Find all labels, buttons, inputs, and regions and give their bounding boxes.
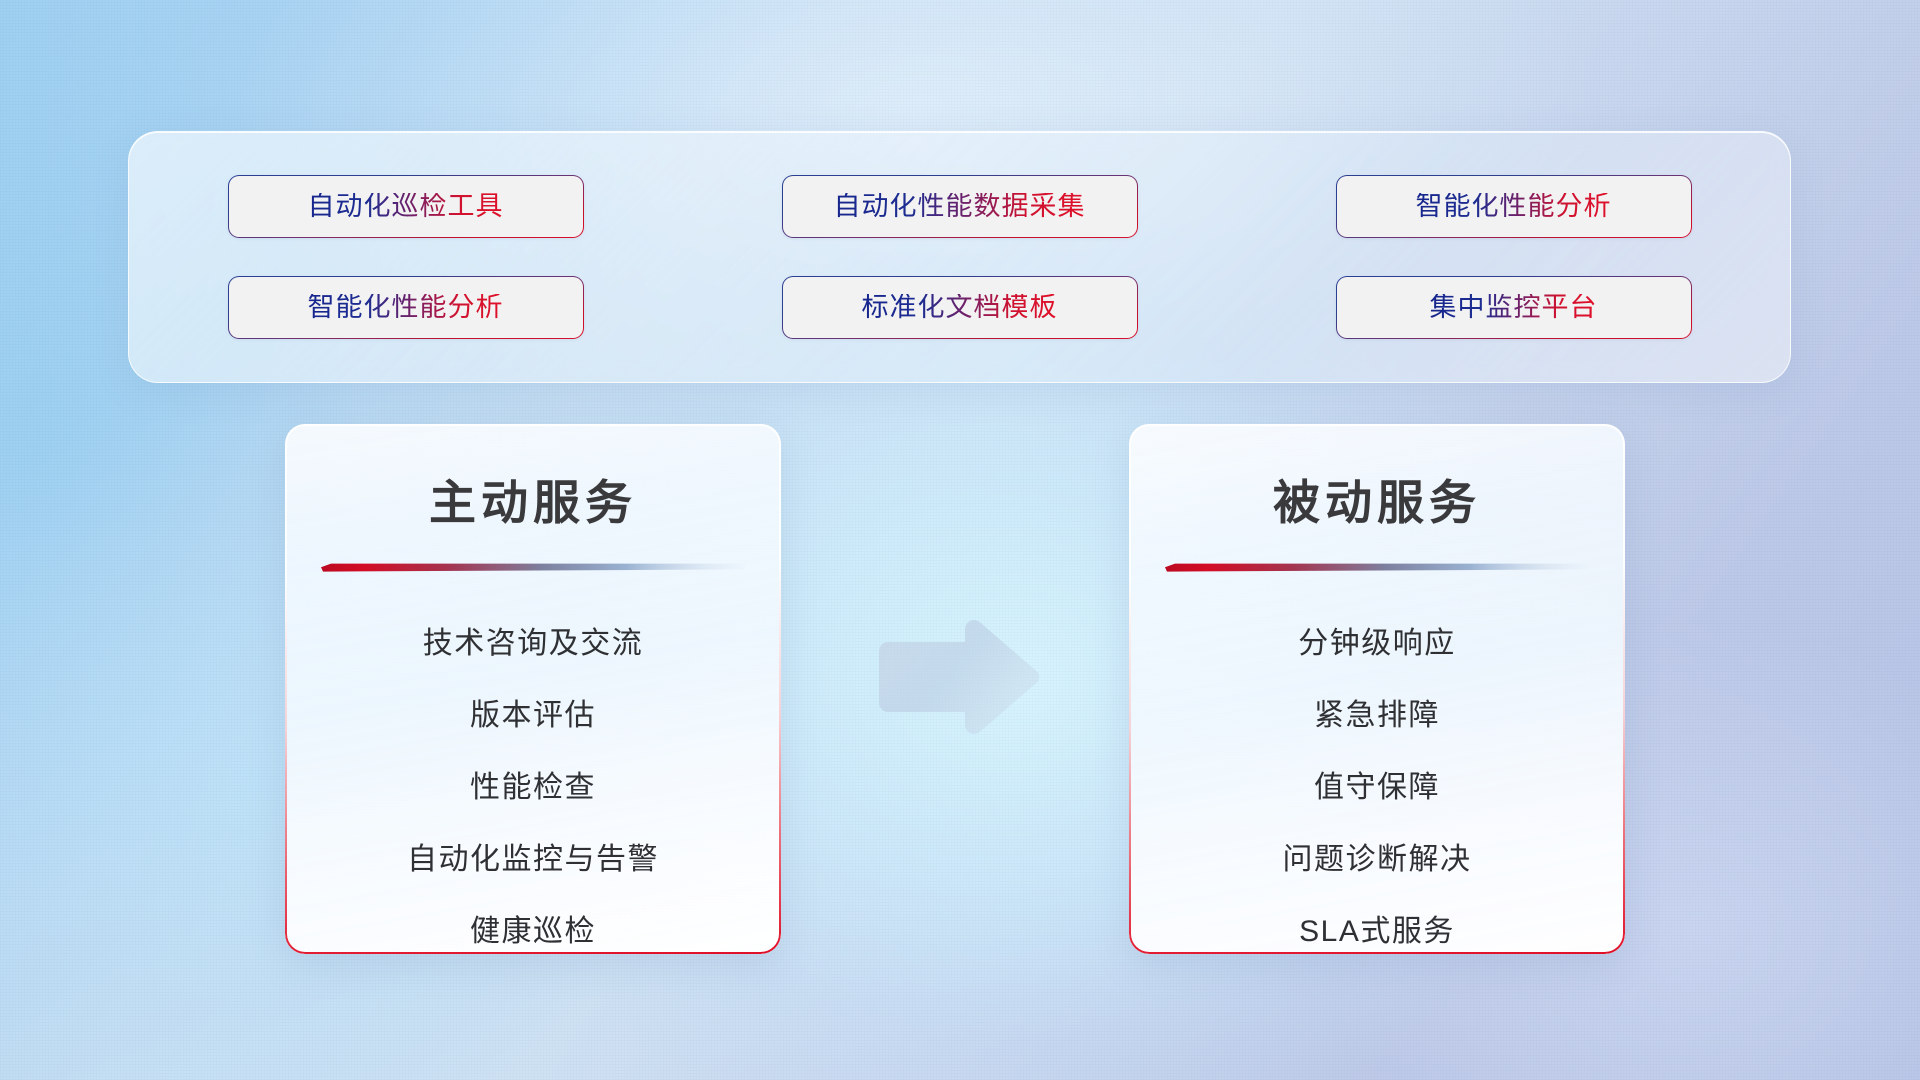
capability-tag-label: 智能化性能分析 bbox=[1416, 193, 1612, 220]
list-item: 分钟级响应 bbox=[1129, 608, 1625, 680]
capability-tag-3[interactable]: 智能化性能分析 bbox=[228, 276, 584, 339]
capability-tag-label: 自动化性能数据采集 bbox=[834, 193, 1086, 220]
card-list-active: 技术咨询及交流 版本评估 性能检查 自动化监控与告警 健康巡检 bbox=[285, 608, 781, 954]
list-item: 紧急排障 bbox=[1129, 680, 1625, 752]
capability-tag-4[interactable]: 标准化文档模板 bbox=[782, 276, 1138, 339]
capability-tags-grid: 自动化巡检工具 自动化性能数据采集 智能化性能分析 智能化性能分析 标准化文档模… bbox=[228, 175, 1692, 339]
list-item: 问题诊断解决 bbox=[1129, 824, 1625, 896]
list-item: 性能检查 bbox=[285, 752, 781, 824]
list-item: 技术咨询及交流 bbox=[285, 608, 781, 680]
right-arrow-icon bbox=[873, 617, 1045, 737]
capability-tag-label: 标准化文档模板 bbox=[862, 294, 1058, 321]
card-list-passive: 分钟级响应 紧急排障 值守保障 问题诊断解决 SLA式服务 bbox=[1129, 608, 1625, 954]
service-card-passive: 被动服务 分钟级响应 紧急排障 值守保障 问题诊断解决 SLA式服务 bbox=[1129, 424, 1625, 954]
list-item: 版本评估 bbox=[285, 680, 781, 752]
capability-tags-panel: 自动化巡检工具 自动化性能数据采集 智能化性能分析 智能化性能分析 标准化文档模… bbox=[128, 131, 1791, 383]
list-item: 健康巡检 bbox=[285, 896, 781, 954]
capability-tag-0[interactable]: 自动化巡检工具 bbox=[228, 175, 584, 238]
card-title-passive: 被动服务 bbox=[1129, 464, 1625, 533]
service-card-active: 主动服务 技术咨询及交流 版本评估 性能检查 自动化监控与告警 健康巡检 bbox=[285, 424, 781, 954]
card-divider-passive bbox=[1165, 563, 1589, 572]
capability-tag-label: 集中监控平台 bbox=[1430, 294, 1598, 321]
capability-tag-2[interactable]: 智能化性能分析 bbox=[1336, 175, 1692, 238]
capability-tag-label: 智能化性能分析 bbox=[308, 294, 504, 321]
card-title-active: 主动服务 bbox=[285, 464, 781, 533]
capability-tag-label: 自动化巡检工具 bbox=[308, 193, 504, 220]
card-divider-active bbox=[321, 563, 745, 572]
list-item: SLA式服务 bbox=[1129, 896, 1625, 954]
capability-tag-5[interactable]: 集中监控平台 bbox=[1336, 276, 1692, 339]
list-item: 值守保障 bbox=[1129, 752, 1625, 824]
capability-tag-1[interactable]: 自动化性能数据采集 bbox=[782, 175, 1138, 238]
list-item: 自动化监控与告警 bbox=[285, 824, 781, 896]
